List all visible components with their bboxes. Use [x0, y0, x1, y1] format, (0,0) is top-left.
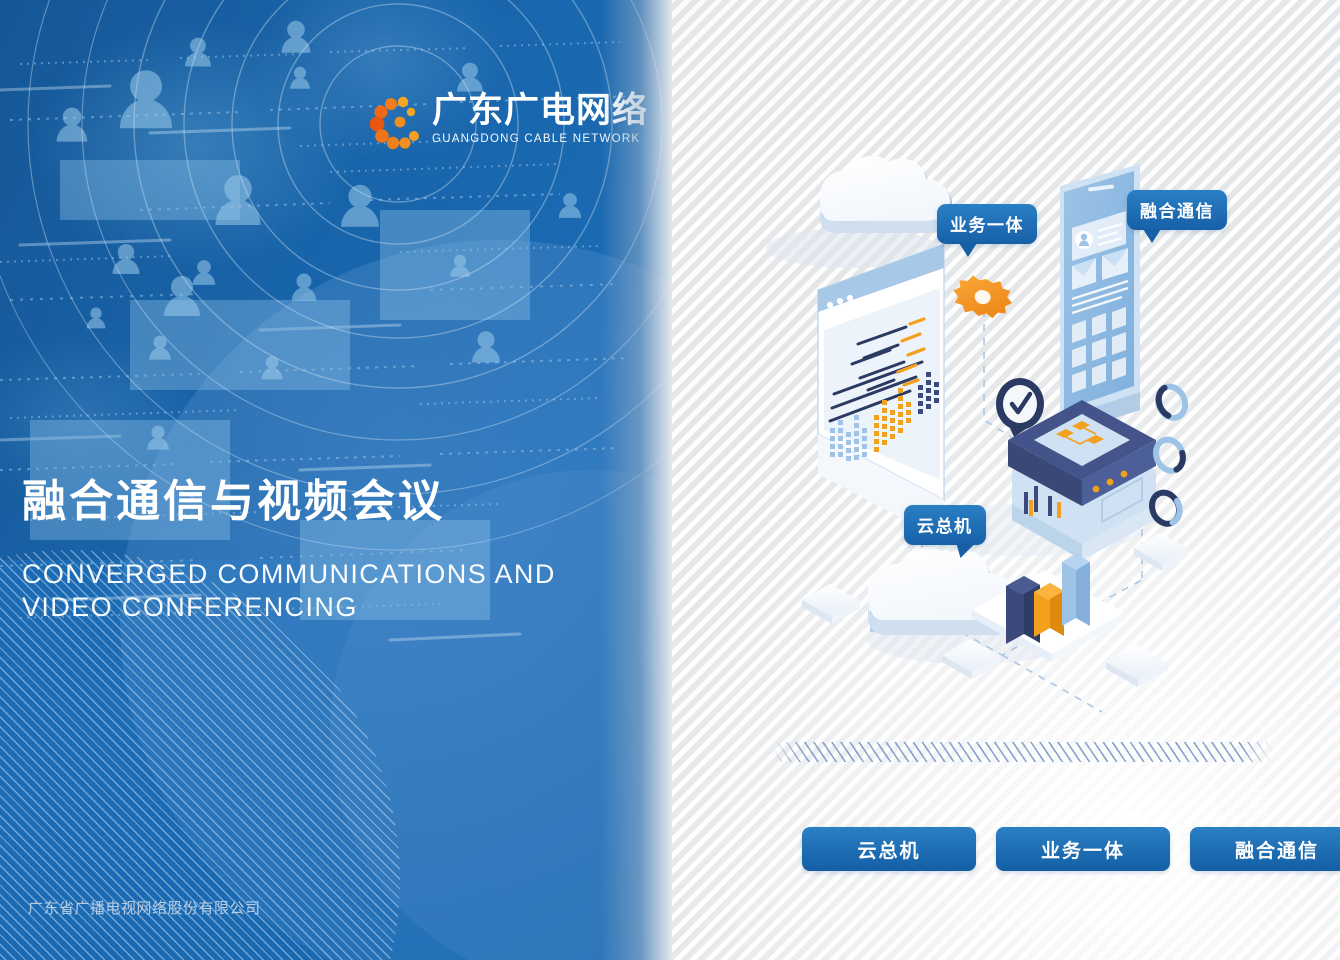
pill-business-integration[interactable]: 业务一体: [996, 827, 1170, 871]
hero-title-cn: 融合通信与视频会议: [22, 465, 445, 529]
hero-title-en: CONVERGED COMMUNICATIONS AND VIDEO CONFE…: [22, 558, 622, 624]
pill-label: 融合通信: [1235, 836, 1319, 863]
company-footer: 广东省广播电视网络股份有限公司: [28, 897, 261, 918]
isometric-illustration: 业务一体 融合通信 云总机: [672, 0, 1340, 960]
slide-page: 广东广电网络 GUANGDONG CABLE NETWORK 融合通信与视频会议…: [0, 0, 1340, 960]
hatch-band-decoration: [772, 742, 1272, 762]
illustration-canvas: [672, 0, 1340, 960]
pill-converged-communication[interactable]: 融合通信: [1190, 827, 1340, 871]
panel-edge-fade: [600, 0, 672, 960]
bubble-tail-icon: [959, 243, 977, 257]
bubble-business-integration: 业务一体: [937, 204, 1037, 244]
bubble-converged-communication: 融合通信: [1127, 190, 1227, 230]
feature-pill-group: 云总机 业务一体 融合通信: [802, 827, 1340, 871]
bubble-label: 云总机: [917, 517, 973, 537]
bubble-label: 业务一体: [950, 216, 1024, 236]
gear-icon: [949, 272, 1016, 322]
pill-label: 云总机: [857, 836, 920, 863]
dashboard-window-icon: [818, 244, 944, 540]
brand-logo: 广东广电网络 GUANGDONG CABLE NETWORK: [370, 93, 620, 155]
sync-ring-icon: [1147, 382, 1190, 528]
pill-cloud-pbx[interactable]: 云总机: [802, 827, 976, 871]
bubble-tail-icon: [1143, 229, 1161, 243]
guangdong-cable-c-logo-icon: [370, 95, 426, 151]
pill-label: 业务一体: [1041, 836, 1125, 863]
bubble-label: 融合通信: [1140, 202, 1214, 222]
left-hero-panel: 广东广电网络 GUANGDONG CABLE NETWORK 融合通信与视频会议…: [0, 0, 672, 960]
cloud-icon: [820, 156, 952, 233]
bubble-cloud-pbx: 云总机: [904, 505, 986, 545]
